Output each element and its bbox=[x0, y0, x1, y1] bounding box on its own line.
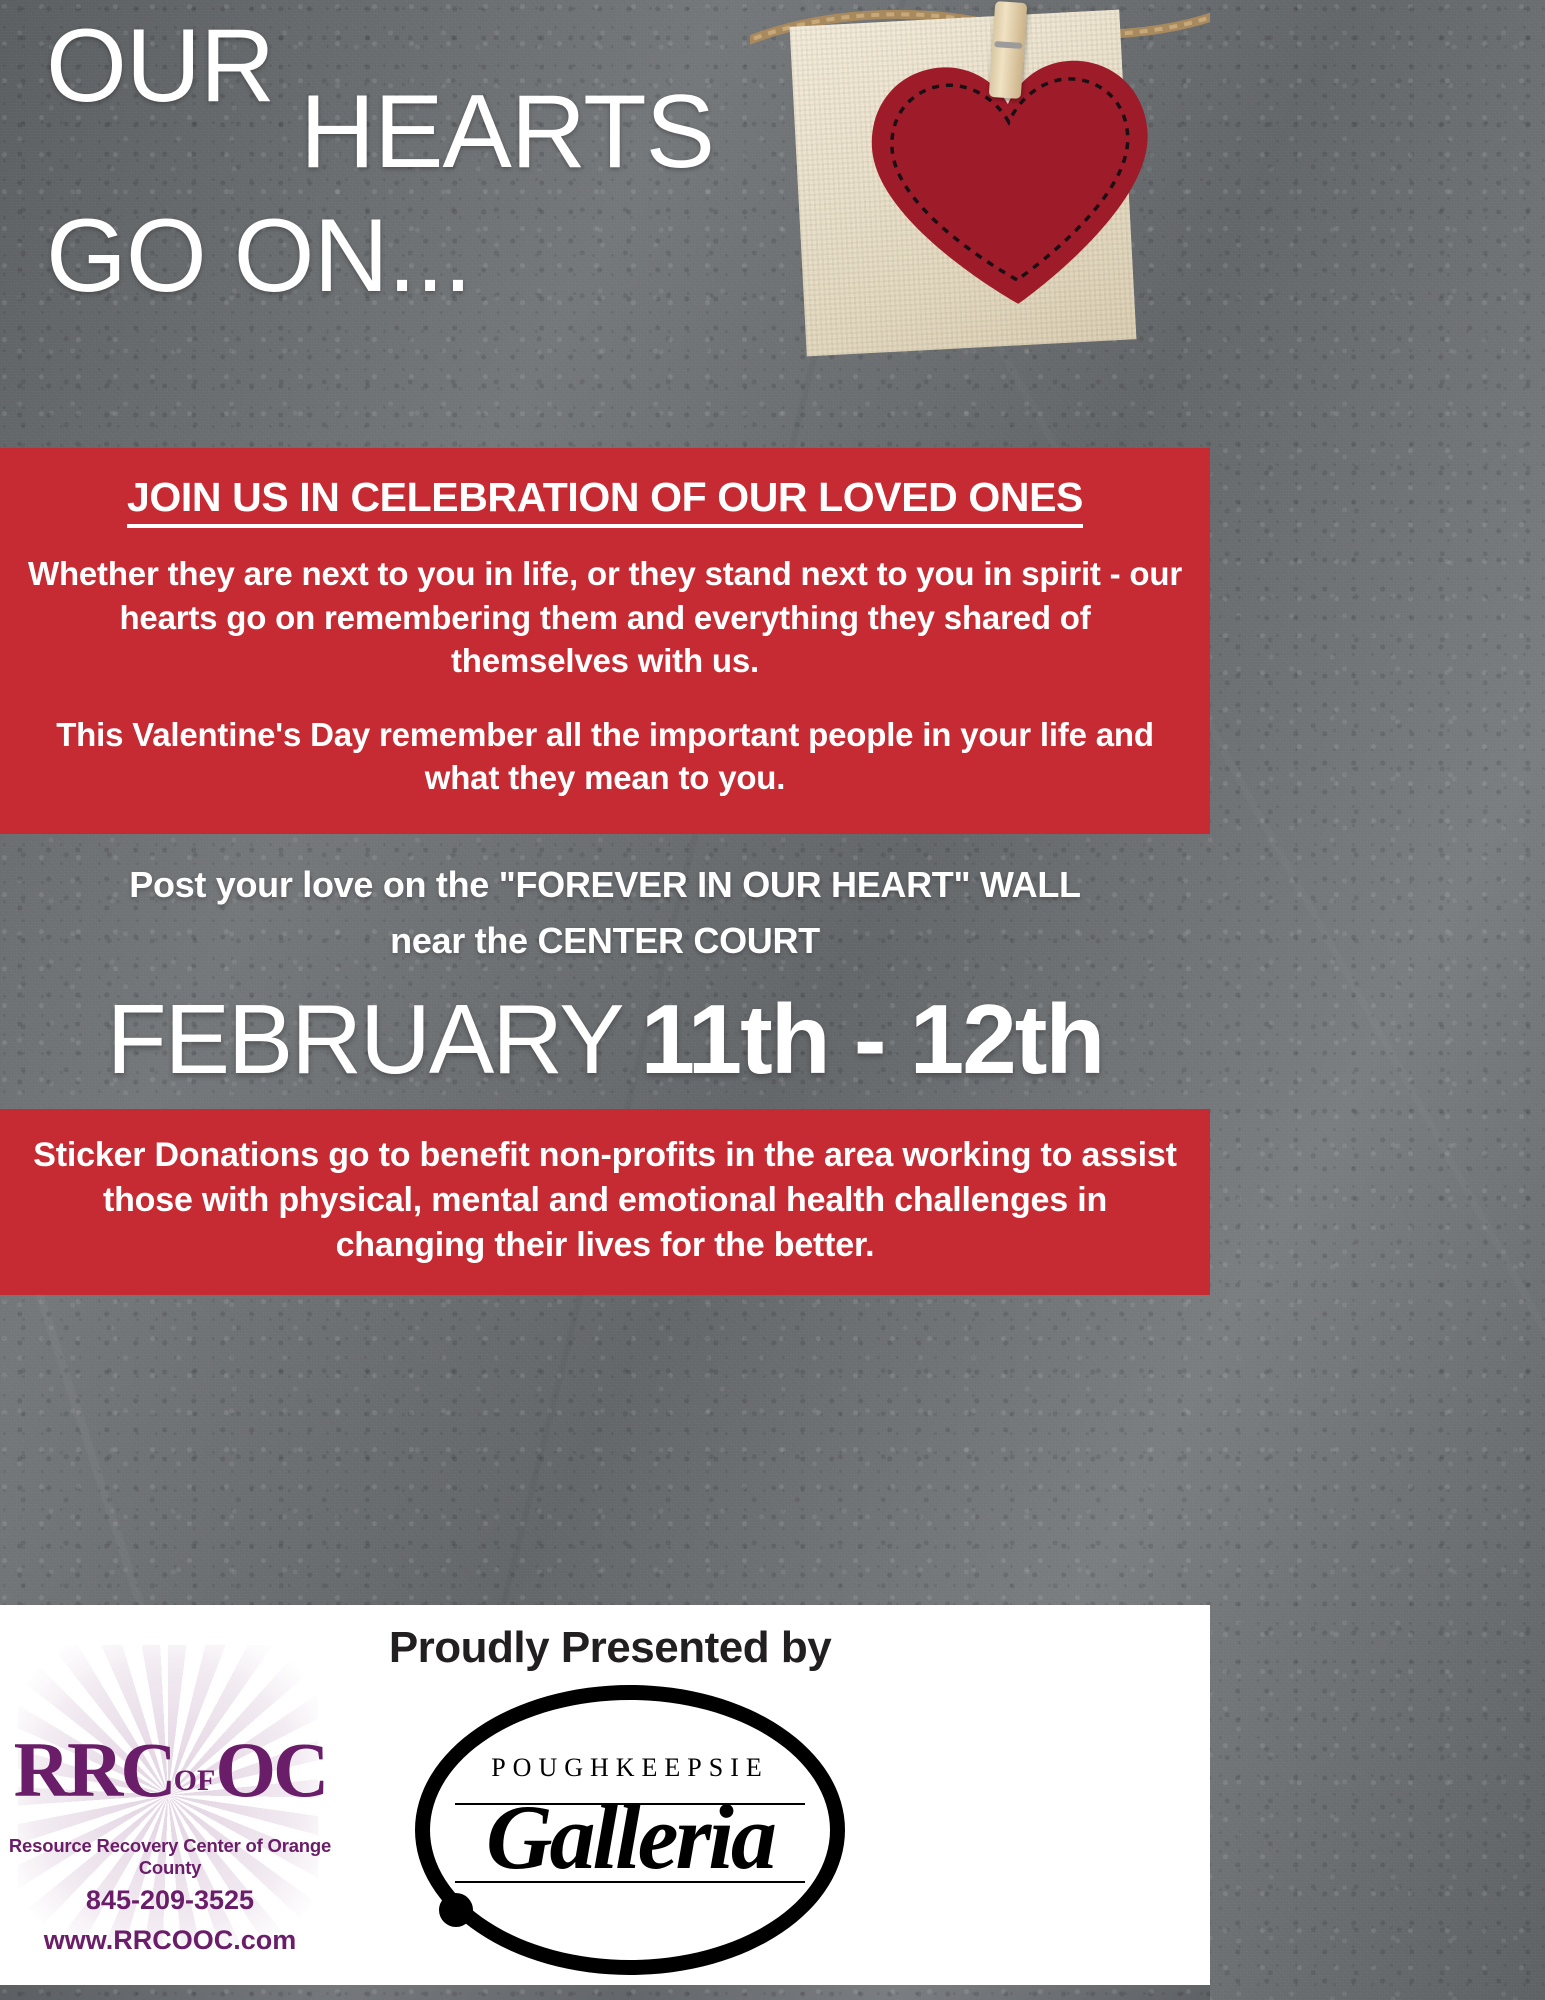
headline-line-2: HEARTS bbox=[300, 82, 714, 184]
headline-line-1: OUR bbox=[46, 16, 274, 118]
fabric-swatch-edge bbox=[790, 10, 1137, 357]
post-your-love-line-1: Post your love on the "FOREVER IN OUR HE… bbox=[18, 862, 1192, 908]
rrcoc-acronym-left: RRC bbox=[14, 1726, 174, 1813]
join-us-title: JOIN US IN CELEBRATION OF OUR LOVED ONES bbox=[14, 474, 1196, 526]
gray-gutter bbox=[0, 1295, 1210, 1313]
sticker-donations-paragraph: Sticker Donations go to benefit non-prof… bbox=[32, 1133, 1178, 1268]
event-date-month: FEBRUARY bbox=[107, 984, 623, 1094]
rrcoc-acronym-of: OF bbox=[174, 1764, 216, 1797]
gray-band-location-and-date: Post your love on the "FOREVER IN OUR HE… bbox=[0, 834, 1210, 1109]
rrcoc-acronym: RRCOFOC bbox=[0, 1731, 340, 1809]
heart-photo bbox=[750, 0, 1210, 360]
red-band-celebration: JOIN US IN CELEBRATION OF OUR LOVED ONES… bbox=[0, 448, 1210, 834]
event-date: FEBRUARY11th - 12th bbox=[18, 988, 1192, 1091]
rrcoc-full-name: Resource Recovery Center of Orange Count… bbox=[0, 1835, 340, 1879]
headline-line-3: GO ON... bbox=[46, 206, 471, 308]
celebration-paragraph-2: This Valentine's Day remember all the im… bbox=[28, 713, 1182, 800]
join-us-title-text: JOIN US IN CELEBRATION OF OUR LOVED ONES bbox=[127, 474, 1083, 528]
poster: OUR HEARTS GO ON... JOIN US IN CELEBRATI… bbox=[0, 0, 1545, 2000]
galleria-dot-icon bbox=[439, 1893, 473, 1927]
galleria-rule-bottom bbox=[455, 1881, 805, 1883]
felt-heart-icon bbox=[855, 44, 1168, 321]
red-band-donations: Sticker Donations go to benefit non-prof… bbox=[0, 1109, 1210, 1296]
galleria-script-word: Galleria bbox=[415, 1791, 845, 1883]
hero-section: OUR HEARTS GO ON... bbox=[0, 0, 1210, 448]
celebration-paragraph-1: Whether they are next to you in life, or… bbox=[28, 552, 1182, 683]
bottom-gray-strip bbox=[0, 1985, 1210, 2000]
galleria-poughkeepsie-word: POUGHKEEPSIE bbox=[415, 1753, 845, 1783]
rrcoc-logo[interactable]: RRCOFOC Resource Recovery Center of Oran… bbox=[0, 1645, 340, 1975]
clothespin-icon bbox=[989, 1, 1028, 99]
post-your-love-line-2: near the CENTER COURT bbox=[18, 918, 1192, 964]
rrcoc-phone[interactable]: 845-209-3525 bbox=[0, 1885, 340, 1916]
rrcoc-website[interactable]: www.RRCOOC.com bbox=[0, 1925, 340, 1956]
fabric-swatch bbox=[790, 10, 1137, 357]
event-date-days: 11th - 12th bbox=[641, 984, 1104, 1094]
proudly-presented-by-label: Proudly Presented by bbox=[330, 1623, 890, 1673]
rrcoc-acronym-right: OC bbox=[215, 1726, 326, 1813]
footer-sponsors: Proudly Presented by RRCOFOC Resource Re… bbox=[0, 1605, 1210, 1985]
poughkeepsie-galleria-logo[interactable]: POUGHKEEPSIE Galleria bbox=[415, 1685, 845, 1975]
twine-rope-icon bbox=[750, 2, 1210, 62]
